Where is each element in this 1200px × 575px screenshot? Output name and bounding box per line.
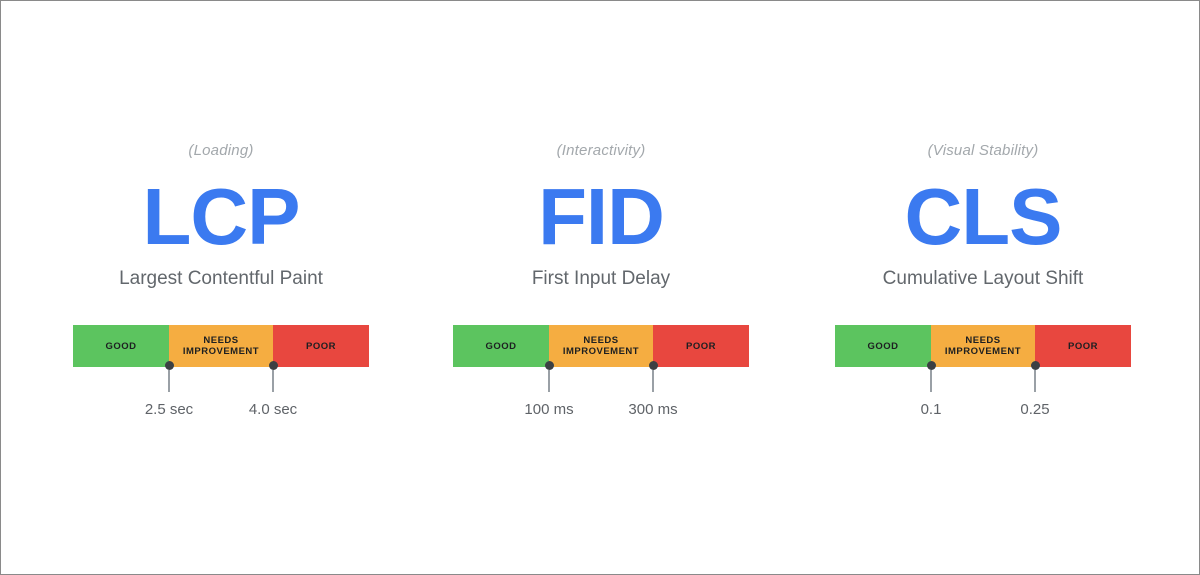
pin-stem-icon (548, 370, 550, 392)
metric-acronym: LCP (143, 175, 300, 259)
metric-category-caption: (Visual Stability) (928, 141, 1039, 161)
segment-good-label: GOOD (105, 341, 136, 352)
segment-needs-improvement: NEEDS IMPROVEMENT (931, 325, 1035, 367)
pin-head-icon (1031, 361, 1040, 370)
metric-card-cls: (Visual Stability) CLS Cumulative Layout… (818, 141, 1148, 367)
metric-fullname: Cumulative Layout Shift (883, 267, 1084, 291)
metric-fullname: First Input Delay (532, 267, 670, 291)
pin-stem-icon (168, 370, 170, 392)
metric-category-caption: (Interactivity) (557, 141, 646, 161)
segment-needs-improvement: NEEDS IMPROVEMENT (169, 325, 273, 367)
threshold-label-upper: 300 ms (628, 401, 677, 419)
segment-poor: POOR (653, 325, 749, 367)
metric-category-caption: (Loading) (188, 141, 253, 161)
threshold-bar: GOOD NEEDS IMPROVEMENT POOR (453, 325, 749, 367)
segment-poor-label: POOR (306, 341, 336, 352)
threshold-bar: GOOD NEEDS IMPROVEMENT POOR (73, 325, 369, 367)
threshold-label-lower: 2.5 sec (145, 401, 193, 419)
pin-head-icon (165, 361, 174, 370)
pin-stem-icon (272, 370, 274, 392)
threshold-label-upper: 4.0 sec (249, 401, 297, 419)
segment-good-label: GOOD (867, 341, 898, 352)
segment-poor-label: POOR (686, 341, 716, 352)
pin-head-icon (649, 361, 658, 370)
segment-needs-improvement-label: NEEDS IMPROVEMENT (945, 335, 1021, 357)
metric-card-fid: (Interactivity) FID First Input Delay GO… (436, 141, 766, 367)
metrics-row: (Loading) LCP Largest Contentful Paint G… (1, 1, 1200, 575)
threshold-label-lower: 100 ms (524, 401, 573, 419)
threshold-label-lower: 0.1 (921, 401, 942, 419)
metric-card-lcp: (Loading) LCP Largest Contentful Paint G… (56, 141, 386, 367)
segment-poor: POOR (1035, 325, 1131, 367)
segment-poor: POOR (273, 325, 369, 367)
pin-stem-icon (1034, 370, 1036, 392)
threshold-bar-block: GOOD NEEDS IMPROVEMENT POOR 2.5 sec 4.0 … (73, 325, 369, 367)
pin-head-icon (927, 361, 936, 370)
threshold-bar-block: GOOD NEEDS IMPROVEMENT POOR 0.1 0.25 (835, 325, 1131, 367)
threshold-label-upper: 0.25 (1020, 401, 1049, 419)
pin-stem-icon (652, 370, 654, 392)
segment-needs-improvement: NEEDS IMPROVEMENT (549, 325, 653, 367)
infographic-canvas: (Loading) LCP Largest Contentful Paint G… (0, 0, 1200, 575)
pin-stem-icon (930, 370, 932, 392)
segment-poor-label: POOR (1068, 341, 1098, 352)
threshold-bar: GOOD NEEDS IMPROVEMENT POOR (835, 325, 1131, 367)
segment-good: GOOD (73, 325, 169, 367)
segment-good-label: GOOD (485, 341, 516, 352)
metric-fullname: Largest Contentful Paint (119, 267, 323, 291)
metric-acronym: CLS (905, 175, 1062, 259)
segment-good: GOOD (835, 325, 931, 367)
metric-acronym: FID (538, 175, 664, 259)
segment-needs-improvement-label: NEEDS IMPROVEMENT (183, 335, 259, 357)
segment-needs-improvement-label: NEEDS IMPROVEMENT (563, 335, 639, 357)
threshold-bar-block: GOOD NEEDS IMPROVEMENT POOR 100 ms 300 m… (453, 325, 749, 367)
pin-head-icon (269, 361, 278, 370)
segment-good: GOOD (453, 325, 549, 367)
pin-head-icon (545, 361, 554, 370)
